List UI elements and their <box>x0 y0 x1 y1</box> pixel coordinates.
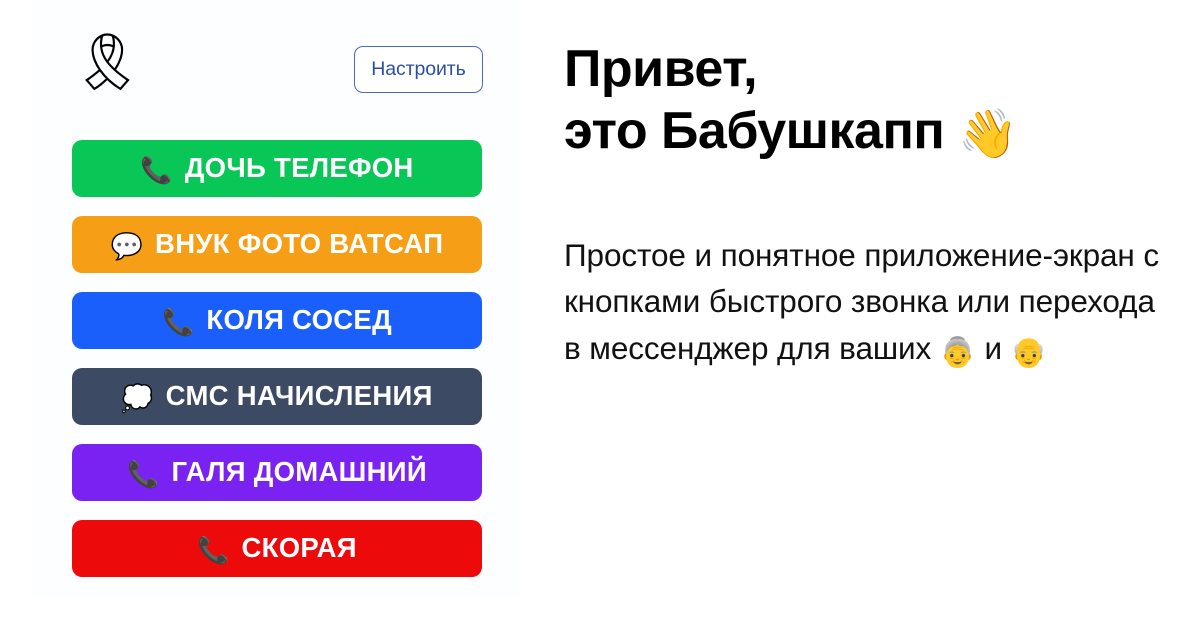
settings-button[interactable]: Настроить <box>354 46 483 93</box>
app-preview-panel: 🎗 Настроить 📞ДОЧЬ ТЕЛЕФОН💬ВНУК ФОТО ВАТС… <box>33 0 519 598</box>
promo-text-block: Привет, это Бабушкапп 👋 Простое и понятн… <box>562 0 1182 630</box>
promo-banner: 🎗 Настроить 📞ДОЧЬ ТЕЛЕФОН💬ВНУК ФОТО ВАТС… <box>0 0 1200 630</box>
quick-dial-button[interactable]: 📞ГАЛЯ ДОМАШНИЙ <box>72 444 482 501</box>
speech-balloon-icon: 💬 <box>111 233 143 259</box>
quick-dial-button[interactable]: 📞ДОЧЬ ТЕЛЕФОН <box>72 140 482 197</box>
quick-dial-button-label: СМС НАЧИСЛЕНИЯ <box>166 382 433 410</box>
telephone-receiver-icon: 📞 <box>140 157 172 183</box>
telephone-receiver-icon: 📞 <box>197 537 229 563</box>
telephone-receiver-icon: 📞 <box>162 309 194 335</box>
old-man-icon: 👴 <box>1011 337 1047 369</box>
telephone-receiver-icon: 📞 <box>127 461 159 487</box>
quick-dial-button-label: КОЛЯ СОСЕД <box>206 306 392 334</box>
quick-dial-button[interactable]: 📞КОЛЯ СОСЕД <box>72 292 482 349</box>
quick-dial-button-label: ДОЧЬ ТЕЛЕФОН <box>185 154 414 182</box>
promo-description-text-1: Простое и понятное приложение-экран с кн… <box>564 237 1159 366</box>
app-header: 🎗 Настроить <box>72 30 483 94</box>
quick-dial-button[interactable]: 💬ВНУК ФОТО ВАТСАП <box>72 216 482 273</box>
quick-dial-button-label: СКОРАЯ <box>241 534 356 562</box>
old-woman-icon: 👵 <box>940 337 976 369</box>
quick-dial-button[interactable]: 💭СМС НАЧИСЛЕНИЯ <box>72 368 482 425</box>
promo-title: Привет, это Бабушкапп 👋 <box>564 38 1018 164</box>
quick-dial-button[interactable]: 📞СКОРАЯ <box>72 520 482 577</box>
quick-dial-button-list: 📞ДОЧЬ ТЕЛЕФОН💬ВНУК ФОТО ВАТСАП📞КОЛЯ СОСЕ… <box>72 140 482 596</box>
thought-balloon-icon: 💭 <box>121 385 153 411</box>
red-ribbon-icon: 🎗 <box>72 30 134 100</box>
quick-dial-button-label: ГАЛЯ ДОМАШНИЙ <box>171 458 426 486</box>
promo-description: Простое и понятное приложение-экран с кн… <box>564 232 1179 374</box>
quick-dial-button-label: ВНУК ФОТО ВАТСАП <box>155 230 443 258</box>
promo-description-text-2: и <box>976 330 1011 366</box>
promo-title-line-2: это Бабушкапп <box>564 102 944 160</box>
waving-hand-icon: 👋 <box>958 108 1017 161</box>
promo-title-line-1: Привет, <box>564 40 757 98</box>
